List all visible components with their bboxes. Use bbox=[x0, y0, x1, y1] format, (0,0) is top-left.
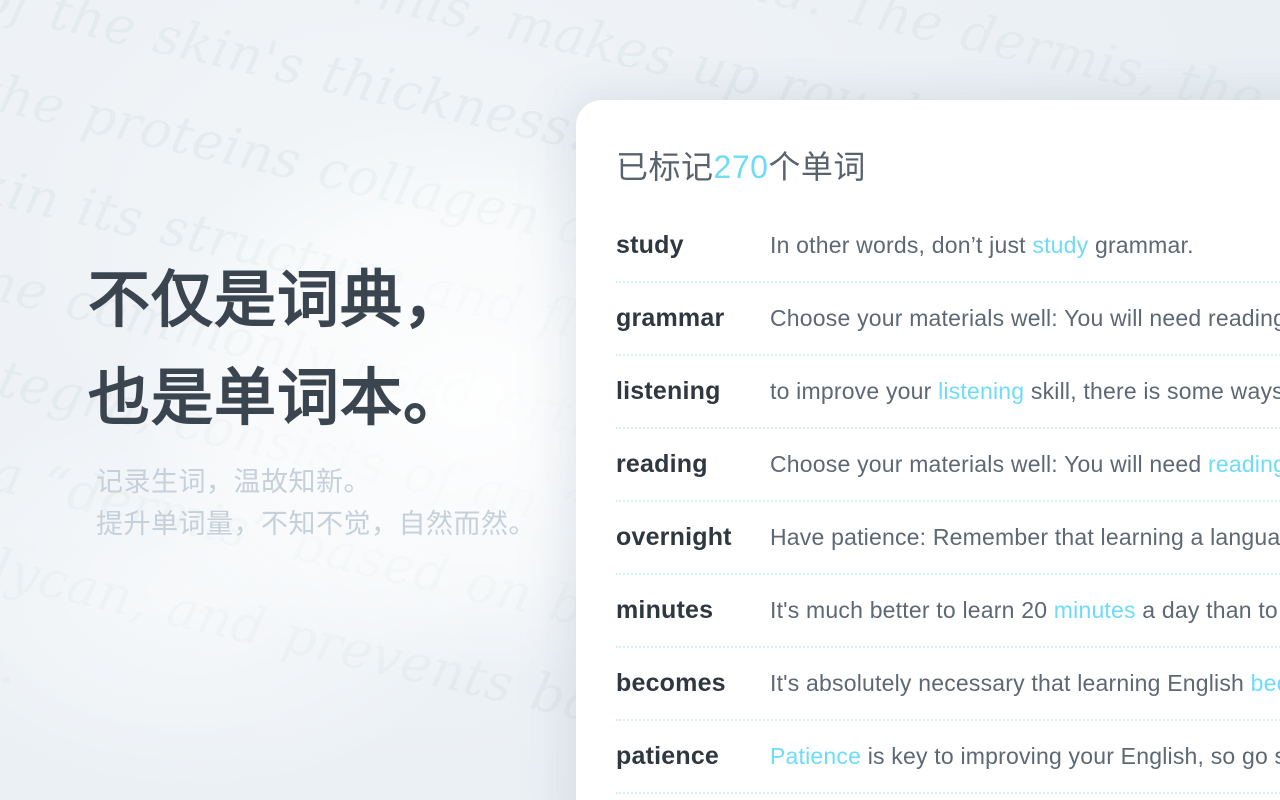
sentence-text-before: to improve your bbox=[770, 378, 938, 404]
hero-subtitle: 记录生词，温故知新。 提升单词量，不知不觉，自然而然。 bbox=[96, 462, 558, 546]
highlighted-word: reading bbox=[1208, 451, 1280, 477]
word-term[interactable]: becomes bbox=[616, 669, 770, 698]
word-term[interactable]: grammar bbox=[616, 304, 770, 333]
word-example-sentence: Patience is key to improving your Englis… bbox=[770, 743, 1280, 770]
word-row[interactable]: readingChoose your materials well: You w… bbox=[616, 429, 1280, 502]
highlighted-word: bec bbox=[1251, 670, 1280, 696]
hero-section: 不仅是词典， 也是单词本。 记录生词，温故知新。 提升单词量，不知不觉，自然而然… bbox=[88, 252, 558, 546]
word-example-sentence: In other words, don’t just study grammar… bbox=[770, 232, 1280, 259]
word-example-sentence: Choose your materials well: You will nee… bbox=[770, 305, 1280, 332]
marked-word-count: 270 bbox=[714, 149, 769, 185]
sentence-text-before: In other words, don’t just bbox=[770, 232, 1032, 258]
sentence-text-after: grammar. bbox=[1088, 232, 1193, 258]
word-row[interactable]: minutes It's much better to learn 20 min… bbox=[616, 575, 1280, 648]
word-example-sentence: Have patience: Remember that learning a … bbox=[770, 524, 1280, 551]
sentence-text-before: Choose your materials well: You will nee… bbox=[770, 451, 1208, 477]
word-row[interactable]: listeningto improve your listening skill… bbox=[616, 356, 1280, 429]
word-row[interactable]: becomesIt's absolutely necessary that le… bbox=[616, 648, 1280, 721]
sentence-text-before: It's much better to learn 20 bbox=[770, 597, 1054, 623]
word-term[interactable]: reading bbox=[616, 450, 770, 479]
sentence-text-before: Have patience: Remember that learning a … bbox=[770, 524, 1280, 550]
card-title-prefix: 已标记 bbox=[616, 149, 714, 185]
word-term[interactable]: patience bbox=[616, 742, 770, 771]
word-term[interactable]: overnight bbox=[616, 523, 770, 552]
word-term[interactable]: listening bbox=[616, 377, 770, 406]
word-row[interactable]: patiencePatience is key to improving you… bbox=[616, 721, 1280, 794]
highlighted-word: listening bbox=[938, 378, 1024, 404]
sentence-text-after: skill, there is some ways bbox=[1024, 378, 1280, 404]
highlighted-word: study bbox=[1032, 232, 1088, 258]
hero-headline: 不仅是词典， 也是单词本。 bbox=[88, 252, 558, 448]
word-row[interactable]: studyIn other words, don’t just study gr… bbox=[616, 210, 1280, 283]
word-example-sentence: It's absolutely necessary that learning … bbox=[770, 670, 1280, 697]
highlighted-word: minutes bbox=[1054, 597, 1136, 623]
word-row[interactable]: overnightHave patience: Remember that le… bbox=[616, 502, 1280, 575]
word-list[interactable]: studyIn other words, don’t just study gr… bbox=[576, 210, 1280, 794]
page-root: skin barrier against the outside world. … bbox=[0, 0, 1280, 800]
wordbook-card: 已标记270个单词 studyIn other words, don’t jus… bbox=[576, 100, 1280, 800]
word-example-sentence: Choose your materials well: You will nee… bbox=[770, 451, 1280, 478]
card-title: 已标记270个单词 bbox=[576, 100, 1280, 188]
sentence-text-after: is key to improving your English, so go … bbox=[861, 743, 1280, 769]
sentence-text-before: Choose your materials well: You will nee… bbox=[770, 305, 1280, 331]
card-title-suffix: 个单词 bbox=[768, 149, 866, 185]
word-row[interactable]: grammarChoose your materials well: You w… bbox=[616, 283, 1280, 356]
word-example-sentence: It's much better to learn 20 minutes a d… bbox=[770, 597, 1280, 624]
sentence-text-before: It's absolutely necessary that learning … bbox=[770, 670, 1251, 696]
highlighted-word: Patience bbox=[770, 743, 861, 769]
word-term[interactable]: study bbox=[616, 231, 770, 260]
word-term[interactable]: minutes bbox=[616, 596, 770, 625]
sentence-text-after: a day than to bbox=[1136, 597, 1278, 623]
word-example-sentence: to improve your listening skill, there i… bbox=[770, 378, 1280, 405]
